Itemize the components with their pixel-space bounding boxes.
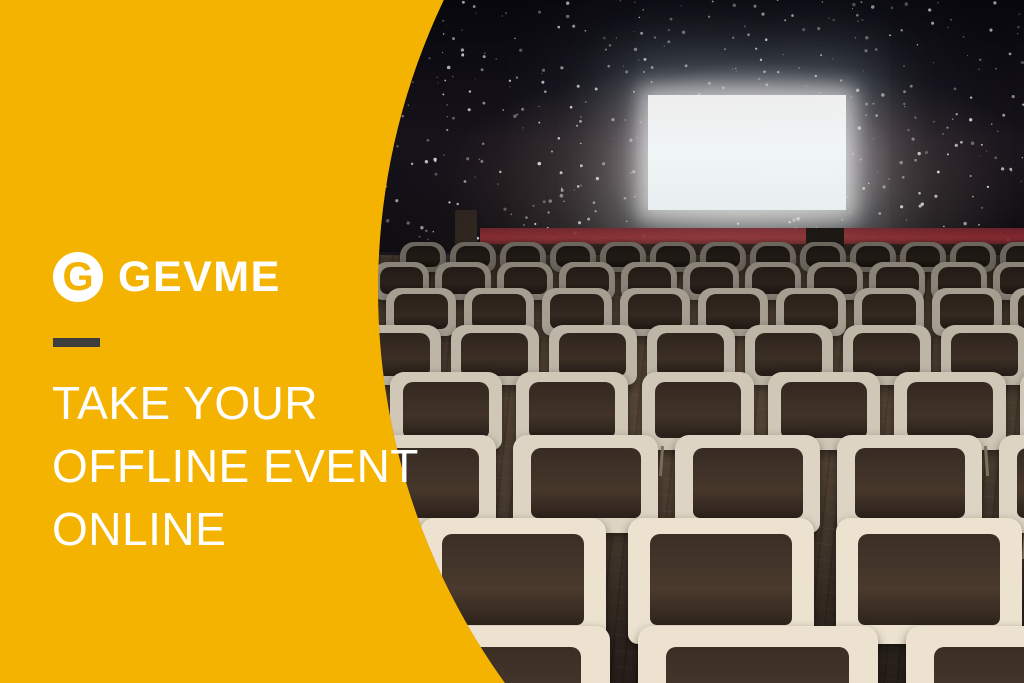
accent-divider xyxy=(53,338,100,347)
chair-seat-back xyxy=(693,448,803,519)
chair-seat-back xyxy=(784,294,837,329)
chair-seat-back xyxy=(666,647,848,683)
chair-seat-back xyxy=(862,294,915,329)
chair-seat-back xyxy=(1017,448,1024,519)
chair-seat-back xyxy=(781,382,866,438)
chair-leg xyxy=(984,446,989,476)
page-title: TAKE YOUR OFFLINE EVENT ONLINE xyxy=(52,372,472,561)
chair-seat-back xyxy=(951,333,1018,376)
banner-content: G GEVME TAKE YOUR OFFLINE EVENT ONLINE xyxy=(53,0,473,683)
chair-seat-back xyxy=(529,382,614,438)
projection-screen xyxy=(648,95,846,210)
chair-seat-back xyxy=(853,333,920,376)
chair-seat-back xyxy=(628,294,681,329)
auditorium-chair xyxy=(638,626,878,683)
chair-seat-back xyxy=(1018,294,1024,329)
gevme-wordmark: GEVME xyxy=(118,256,281,299)
chair-seat-back xyxy=(934,647,1024,683)
chair-seat-back xyxy=(655,382,740,438)
logo-letter-g: G xyxy=(53,252,103,302)
chair-seat-back xyxy=(858,534,999,625)
chair-seat-back xyxy=(855,448,965,519)
chair-seat-back xyxy=(550,294,603,329)
gevme-logo[interactable]: G GEVME xyxy=(53,252,281,302)
chair-seat-back xyxy=(559,333,626,376)
chair-seat-back xyxy=(650,534,791,625)
chair-seat-back xyxy=(472,294,525,329)
chair-seat-back xyxy=(657,333,724,376)
chair-leg xyxy=(659,446,664,476)
chair-seat-back xyxy=(940,294,993,329)
chair-seat-back xyxy=(755,333,822,376)
chair-seat-back xyxy=(706,294,759,329)
gevme-promo-banner: G GEVME TAKE YOUR OFFLINE EVENT ONLINE xyxy=(0,0,1024,683)
chair-seat-back xyxy=(531,448,641,519)
gevme-circle-g-logo-icon: G xyxy=(53,252,103,302)
chair-seat-back xyxy=(907,382,992,438)
auditorium-chair xyxy=(906,626,1024,683)
